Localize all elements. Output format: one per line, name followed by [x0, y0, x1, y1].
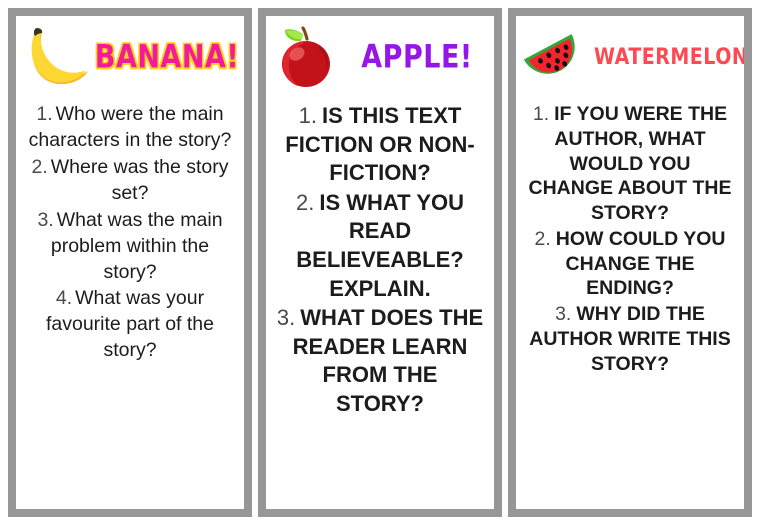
question-list-banana: 1.Who were the main characters in the st… [26, 102, 234, 364]
question-text: IF YOU WERE THE AUTHOR, WHAT WOULD YOU C… [529, 103, 732, 224]
question-card-banana: BANANA! 1.Who were the main characters i… [8, 8, 252, 517]
question-number: 2. [296, 190, 314, 215]
question-text: Who were the main characters in the stor… [29, 103, 232, 151]
card-header-apple: APPLE! [266, 16, 494, 94]
card-body-watermelon: 1.IF YOU WERE THE AUTHOR, WHAT WOULD YOU… [516, 94, 744, 509]
question-list-watermelon: 1.IF YOU WERE THE AUTHOR, WHAT WOULD YOU… [526, 102, 734, 376]
card-title-banana: BANANA! [94, 41, 240, 73]
question-number: 1. [533, 103, 549, 125]
question-text: Where was the story set? [51, 156, 229, 204]
card-header-watermelon: WATERMELON! [516, 16, 744, 94]
list-item: 1.Who were the main characters in the st… [26, 102, 234, 154]
list-item: 1.IF YOU WERE THE AUTHOR, WHAT WOULD YOU… [526, 102, 734, 226]
list-item: 4.What was your favourite part of the st… [26, 286, 234, 364]
card-title-watermelon: WATERMELON! [594, 46, 752, 68]
question-list-apple: 1.IS THIS TEXT FICTION OR NON-FICTION? 2… [276, 102, 484, 419]
card-body-banana: 1.Who were the main characters in the st… [16, 94, 244, 509]
question-number: 1. [36, 103, 52, 125]
list-item: 3.WHY DID THE AUTHOR WRITE THIS STORY? [526, 302, 734, 376]
question-text: HOW COULD YOU CHANGE THE ENDING? [556, 228, 726, 300]
question-number: 3. [37, 209, 53, 231]
question-number: 3. [277, 305, 295, 330]
list-item: 2.IS WHAT YOU READ BELIEVEABLE? EXPLAIN. [276, 189, 484, 303]
list-item: 1.IS THIS TEXT FICTION OR NON-FICTION? [276, 102, 484, 188]
list-item: 3.What was the main problem within the s… [26, 208, 234, 286]
question-number: 2. [32, 156, 48, 178]
banana-icon [20, 22, 94, 92]
question-number: 1. [299, 103, 317, 128]
apple-icon [270, 22, 344, 92]
question-card-apple: APPLE! 1.IS THIS TEXT FICTION OR NON-FIC… [258, 8, 502, 517]
question-number: 3. [555, 303, 571, 325]
question-text: IS WHAT YOU READ BELIEVEABLE? EXPLAIN. [296, 190, 464, 301]
list-item: 2.HOW COULD YOU CHANGE THE ENDING? [526, 227, 734, 301]
watermelon-icon [520, 22, 594, 92]
card-body-apple: 1.IS THIS TEXT FICTION OR NON-FICTION? 2… [266, 94, 494, 509]
list-item: 3.WHAT DOES THE READER LEARN FROM THE ST… [276, 304, 484, 418]
card-title-apple: APPLE! [344, 41, 490, 73]
question-cards-board: BANANA! 1.Who were the main characters i… [0, 0, 760, 525]
question-number: 2. [535, 228, 551, 250]
list-item: 2.Where was the story set? [26, 155, 234, 207]
question-text: WHAT DOES THE READER LEARN FROM THE STOR… [293, 305, 484, 416]
question-text: What was the main problem within the sto… [51, 209, 223, 283]
question-number: 4. [56, 287, 72, 309]
card-header-banana: BANANA! [16, 16, 244, 94]
question-card-watermelon: WATERMELON! 1.IF YOU WERE THE AUTHOR, WH… [508, 8, 752, 517]
